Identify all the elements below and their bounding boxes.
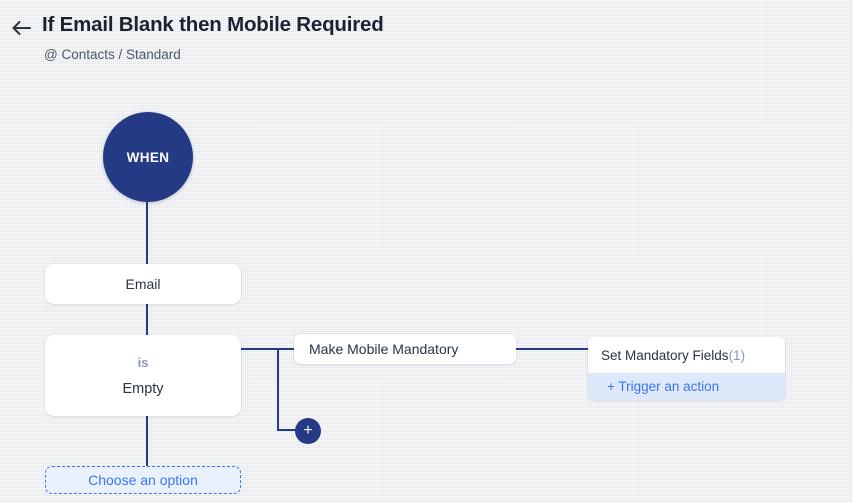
condition-operator-label: is [138, 355, 149, 370]
field-node[interactable]: Email [45, 264, 241, 304]
trigger-node-label: WHEN [127, 150, 170, 165]
add-branch-button[interactable]: + [295, 418, 321, 444]
action-node-label: Make Mobile Mandatory [309, 341, 458, 357]
trigger-node-when[interactable]: WHEN [103, 112, 193, 202]
set-mandatory-fields-label: Set Mandatory Fields [601, 348, 729, 363]
plus-icon: + [303, 423, 312, 439]
page-title: If Email Blank then Mobile Required [42, 13, 384, 37]
field-node-label: Email [125, 276, 160, 292]
action-node[interactable]: Make Mobile Mandatory [294, 334, 516, 364]
connector-field-to-condition [146, 304, 148, 335]
choose-an-option-label: Choose an option [88, 472, 198, 488]
set-mandatory-fields-row[interactable]: Set Mandatory Fields (1) [588, 337, 785, 373]
flow-canvas: WHEN Email is Empty Make Mobile Mandator… [0, 76, 853, 503]
connector-action-to-panel [516, 348, 588, 350]
connector-when-to-field [146, 202, 148, 264]
set-mandatory-fields-count: (1) [729, 348, 746, 363]
choose-an-option-placeholder[interactable]: Choose an option [45, 466, 241, 494]
connector-condition-to-choose [146, 416, 148, 466]
breadcrumb: @ Contacts / Standard [44, 47, 181, 62]
back-arrow-icon[interactable] [8, 14, 36, 42]
trigger-an-action-row[interactable]: + Trigger an action [588, 373, 785, 400]
trigger-an-action-label: + Trigger an action [607, 379, 719, 394]
condition-value-label: Empty [122, 381, 163, 397]
condition-node[interactable]: is Empty [45, 335, 241, 416]
page-header: If Email Blank then Mobile Required @ Co… [0, 0, 853, 76]
action-detail-panel: Set Mandatory Fields (1) + Trigger an ac… [588, 337, 785, 400]
